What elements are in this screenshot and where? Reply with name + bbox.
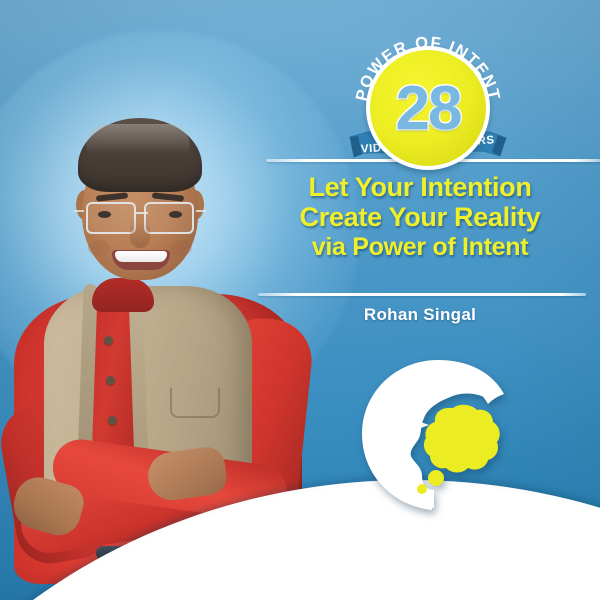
power-of-intent-badge: VIDEOS OF 12 HOURS POWER OF INTENT 28 [338,40,518,168]
presenter-hair-highlight [86,124,190,154]
thought-bubble-icon [417,405,500,494]
poster-canvas: VIDEOS OF 12 HOURS POWER OF INTENT 28 Le… [0,0,600,600]
vest-pocket [170,388,220,418]
presenter-smile [112,250,170,270]
right-cheek [170,240,192,256]
kurta-button [106,376,115,385]
headline-line-2: Create Your Reality [250,202,590,232]
presenter-nose [130,220,150,248]
thought-bubble-cloud [424,405,500,473]
badge-number: 28 [366,46,490,170]
glasses-temple-left [74,210,84,212]
badge-circle-group: POWER OF INTENT 28 [366,46,490,170]
glasses-temple-right [196,210,206,212]
author-name: Rohan Singal [250,305,590,325]
crescent-moon-face-icon [352,356,532,516]
left-cheek [88,240,110,256]
divider-bottom [258,293,586,296]
teeth [115,251,167,262]
glasses-bridge [134,212,148,214]
thought-bubble-dot-small [417,484,427,494]
thought-bubble-dot-large [428,470,444,486]
left-lens [86,202,136,234]
presenter-head [74,116,206,288]
headline-line-3: via Power of Intent [250,232,590,262]
right-lens [144,202,194,234]
headline-line-1: Let Your Intention [250,172,590,202]
headline-block: Let Your Intention Create Your Reality v… [250,172,590,262]
kurta-button [104,336,113,345]
kurta-button [108,416,117,425]
